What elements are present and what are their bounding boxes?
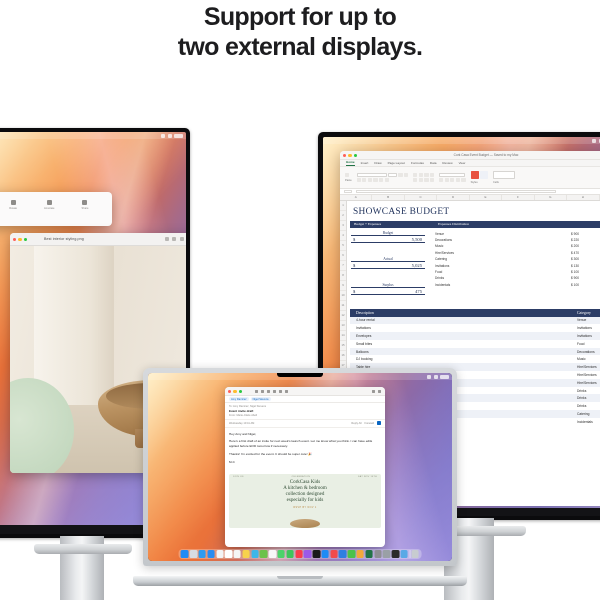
rotate-icon	[11, 200, 16, 205]
photo-window-title: Best interior styling.png	[44, 237, 84, 241]
increase-font-icon[interactable]	[398, 173, 402, 177]
table-row[interactable]: BalloonsDecorations	[350, 348, 600, 356]
tab-insert[interactable]: Insert	[361, 161, 369, 165]
distribution-category: Food	[435, 270, 475, 274]
sidebar-toggle-icon[interactable]	[165, 237, 169, 241]
distribution-percent: 17%	[477, 232, 483, 236]
dock-news-icon[interactable]	[330, 550, 337, 557]
wrap-text-icon[interactable]	[430, 173, 434, 177]
search-icon[interactable]	[378, 390, 381, 393]
distribution-percent: 10%	[477, 251, 483, 255]
tab-draw[interactable]: Draw	[374, 161, 381, 165]
distribution-bar-track: 17%	[475, 231, 529, 237]
ribbon-group-styles[interactable]: Styles	[471, 171, 488, 183]
distribution-bar-track: 5%	[475, 244, 529, 250]
cell-category: Invitations	[577, 326, 600, 330]
zoom-icon[interactable]	[239, 390, 242, 393]
mail-paragraph-1: Here's a first draft of an invite for ne…	[229, 439, 381, 448]
distribution-percent: 8%	[477, 257, 481, 261]
align-right-icon[interactable]	[424, 178, 428, 182]
row-header[interactable]: 6	[340, 251, 346, 261]
row-header[interactable]: 13	[340, 321, 346, 331]
distribution-amount: $ 100	[543, 270, 579, 274]
laptop-lid-notch	[277, 576, 323, 579]
distribution-percent: 10%	[477, 277, 483, 281]
share-icon	[82, 200, 87, 205]
marketing-image-canvas: Support for up to two external displays.	[0, 0, 600, 600]
macbook-laptop: Amy Ramirez Nigel Stevens To: Amy Ramire…	[133, 368, 467, 600]
cell-category: Music	[577, 357, 600, 361]
tab-page-layout[interactable]: Page Layout	[388, 161, 405, 165]
bold-icon[interactable]	[357, 178, 361, 182]
ribbon-group-label: Styles	[471, 181, 478, 184]
distribution-amount: $ 100	[543, 283, 579, 287]
ribbon-group-alignment[interactable]	[413, 173, 434, 183]
kpi-actual: Actual $ 5,025	[351, 257, 425, 270]
border-icon[interactable]	[373, 178, 377, 182]
dock-contacts-icon[interactable]	[216, 550, 223, 557]
spreadsheet-titlebar[interactable]: Cork Casa Event Budget — Saved to my Mac	[340, 151, 600, 160]
minimize-icon[interactable]	[233, 390, 236, 393]
column-header-h[interactable]: H	[567, 195, 599, 200]
distribution-amount: $ 300	[543, 257, 579, 261]
distribution-amount: $ 900	[543, 276, 579, 280]
invite-corner-left: JOIN US	[233, 476, 244, 478]
dock-preview-icon[interactable]	[374, 550, 381, 557]
formula-input[interactable]	[356, 190, 556, 193]
dock-maps-icon[interactable]	[260, 550, 267, 557]
invite-footer: RSVP BY NOV 1	[229, 506, 381, 509]
dock-finder-icon[interactable]	[181, 550, 188, 557]
dock-music-icon[interactable]	[295, 550, 302, 557]
zoom-icon[interactable]	[24, 238, 27, 241]
row-header[interactable]: 4	[340, 231, 346, 241]
bowl-rim	[290, 519, 320, 528]
distribution-amount: $ 200	[543, 244, 579, 248]
dock-facetime-icon[interactable]	[286, 550, 293, 557]
mail-to-line: To: Amy Ramirez, Nigel Stevens	[229, 405, 381, 408]
section-header-band: Budget + Expenses Expenses Distribution	[350, 221, 600, 228]
ribbon-group-number[interactable]	[439, 173, 466, 183]
mail-quick-actions[interactable]: Reply All Forward	[351, 421, 381, 425]
dock-settings-icon[interactable]	[383, 550, 390, 557]
cell-category: Decorations	[577, 350, 600, 354]
toolbar-item-rotate[interactable]: Rotate	[9, 200, 17, 210]
cell-category: Drinks	[577, 389, 600, 393]
dock[interactable]	[179, 549, 422, 559]
headline-line-2: two external displays.	[0, 33, 600, 63]
traffic-lights[interactable]	[13, 238, 27, 241]
fill-color-icon[interactable]	[379, 178, 383, 182]
column-header-d[interactable]: D	[437, 195, 469, 200]
traffic-lights[interactable]	[228, 390, 242, 393]
row-header[interactable]: 9	[340, 281, 346, 291]
cell-description: Envelopes	[350, 334, 577, 338]
tab-review[interactable]: Review	[442, 161, 452, 165]
tab-formulas[interactable]: Formulas	[411, 161, 424, 165]
menu-bar[interactable]	[323, 137, 600, 144]
headline-line-1: Support for up to	[0, 3, 600, 33]
mail-paragraph-2: Thanks! I'm excited for the event. It sh…	[229, 452, 381, 457]
cell-category: Hire/Services	[577, 365, 600, 369]
mail-metadata: To: Amy Ramirez, Nigel Stevens Event inv…	[225, 403, 385, 420]
cell-category: Incidentals	[577, 420, 600, 424]
decrease-decimal-icon[interactable]	[461, 178, 465, 182]
dock-launchpad-icon[interactable]	[190, 550, 197, 557]
cell-category: Hire/Services	[577, 381, 600, 385]
close-icon[interactable]	[228, 390, 231, 393]
cell-category: Food	[577, 342, 600, 346]
font-name-select[interactable]	[357, 173, 387, 177]
distribution-category: Incidentals	[435, 283, 475, 287]
distribution-category: Invitations	[435, 264, 475, 268]
camera-notch	[277, 373, 323, 377]
close-icon[interactable]	[343, 154, 346, 157]
table-header-row: Description Category	[350, 309, 600, 317]
mail-body: Hey Amy and Nigel, Here's a first draft …	[225, 428, 385, 472]
distribution-bar-track: 7%	[475, 237, 529, 243]
photo-window-titlebar[interactable]: Best interior styling.png	[10, 233, 186, 246]
menu-bar-status-items[interactable]	[427, 375, 449, 379]
recipient-chip-nigel[interactable]: Nigel Stevens	[251, 397, 271, 401]
cell-description: Small bites	[350, 342, 577, 346]
italic-icon[interactable]	[362, 178, 366, 182]
toolbar-label: Rotate	[9, 207, 17, 210]
distribution-bar-track: 8%	[475, 256, 529, 262]
distribution-category: Music	[435, 244, 475, 248]
mail-signature: M-C	[229, 460, 381, 465]
distribution-bar-track: 4%	[475, 263, 529, 269]
mail-from-line: From: Marie-Claire Abell	[229, 414, 381, 417]
dock-terminal-icon[interactable]	[392, 550, 399, 557]
conditional-formatting-icon[interactable]	[471, 171, 479, 179]
row-header[interactable]: 15	[340, 341, 346, 351]
zoom-in-icon[interactable]	[180, 237, 184, 241]
align-left-icon[interactable]	[413, 178, 417, 182]
name-box[interactable]	[344, 190, 352, 193]
distribution-bar-track: 9%	[475, 269, 529, 275]
invite-cork-bowl-image	[290, 519, 320, 528]
distribution-bar-track: 10%	[475, 276, 529, 282]
underline-icon[interactable]	[368, 178, 372, 182]
distribution-category: Hire/Services	[435, 251, 475, 255]
distribution-percent: 4%	[477, 264, 481, 268]
column-header-c[interactable]: C	[405, 195, 437, 200]
laptop-base	[133, 576, 467, 586]
column-header-g[interactable]: G	[535, 195, 567, 200]
dock-reminders-icon[interactable]	[234, 550, 241, 557]
row-header[interactable]: 5	[340, 241, 346, 251]
distribution-amount: $ 130	[543, 264, 579, 268]
laptop-screen: Amy Ramirez Nigel Stevens To: Amy Ramire…	[148, 373, 452, 561]
battery-icon[interactable]	[434, 375, 438, 379]
dock-photos-icon[interactable]	[269, 550, 276, 557]
invite-corner-labels: JOIN US CELEBRATION SAT NOV 16TH	[229, 474, 381, 479]
forward-label[interactable]: Forward	[364, 422, 374, 425]
close-icon[interactable]	[13, 238, 16, 241]
table-row[interactable]: 4-hour rentalVenue	[350, 317, 600, 325]
cell-description: DJ booking	[350, 357, 577, 361]
zoom-out-icon[interactable]	[172, 237, 176, 241]
distribution-category: Venue	[435, 232, 475, 236]
cell-styles-gallery[interactable]	[493, 171, 515, 179]
distribution-bar-track: 10%	[475, 250, 529, 256]
recipient-chip-amy[interactable]: Amy Ramirez	[229, 397, 249, 401]
dock-safari-icon[interactable]	[199, 550, 206, 557]
distribution-amount: $ 900	[543, 232, 579, 236]
cell-category: Drinks	[577, 404, 600, 408]
ribbon-group-label: Paste	[345, 179, 352, 182]
row-header[interactable]: 11	[340, 301, 346, 311]
ribbon-tab-bar[interactable]: Home Insert Draw Page Layout Formulas Da…	[340, 160, 600, 167]
number-format-select[interactable]	[439, 173, 465, 177]
dock-messages-icon[interactable]	[278, 550, 285, 557]
expenses-distribution-chart: Venue17%$ 900Decorations7%$ 220Music5%$ …	[435, 231, 595, 289]
annotate-icon	[47, 200, 52, 205]
align-middle-icon[interactable]	[419, 173, 423, 177]
sheet-title: SHOWCASE BUDGET	[353, 207, 449, 217]
dock-calendar-icon[interactable]	[225, 550, 232, 557]
kpi-budget: Budget $ 5,500	[351, 231, 425, 244]
column-description: Description	[350, 311, 577, 315]
ribbon-group-font[interactable]	[357, 173, 409, 183]
ribbon-group-paste[interactable]: Paste	[345, 173, 352, 182]
ribbon-group-label: Cells	[493, 181, 499, 184]
menu-bar-status-items[interactable]	[161, 134, 183, 138]
avatar	[377, 421, 381, 425]
forward-icon[interactable]	[285, 390, 288, 393]
column-header-e[interactable]: E	[470, 195, 502, 200]
paste-icon[interactable]	[345, 173, 349, 177]
row-header[interactable]: 7	[340, 261, 346, 271]
table-row[interactable]: InvitationsInvitations	[350, 324, 600, 332]
cell-description: Invitations	[350, 326, 577, 330]
clock-label[interactable]	[440, 375, 449, 379]
distribution-amount: $ 220	[543, 238, 579, 242]
invite-title: CorkCasa Kids A kitchen & bedroom collec…	[229, 480, 381, 504]
dock-tv-icon[interactable]	[313, 550, 320, 557]
font-size-select[interactable]	[388, 173, 397, 177]
toolbar-item-share[interactable]: Share	[82, 200, 89, 210]
traffic-lights[interactable]	[343, 154, 357, 157]
distribution-amount: $ 470	[543, 251, 579, 255]
ribbon-group-cells[interactable]: Cells	[493, 171, 515, 183]
kpi-surplus: Surplus $ 475	[351, 283, 425, 296]
cell-description: 4-hour rental	[350, 318, 577, 322]
flag-icon[interactable]	[372, 390, 375, 393]
mail-date: Wednesday 10:41 AM	[229, 422, 254, 425]
cell-category: Drinks	[577, 396, 600, 400]
tab-view[interactable]: View	[459, 161, 466, 165]
markup-toolbar[interactable]: Markup Rotate Annotate Share	[0, 200, 112, 210]
currency-format-icon[interactable]	[439, 178, 443, 182]
column-category: Category	[577, 311, 600, 315]
mail-date-row: Wednesday 10:41 AM Reply All Forward	[225, 420, 385, 428]
mail-left-toolbar[interactable]	[255, 390, 288, 393]
tab-home[interactable]: Home	[346, 160, 355, 166]
dock-app-store-icon[interactable]	[321, 550, 328, 557]
toolbar-label: Share	[82, 207, 89, 210]
wifi-icon[interactable]	[427, 375, 431, 379]
table-row[interactable]: DJ bookingMusic	[350, 355, 600, 363]
section-label-distribution: Expenses Distribution	[438, 222, 469, 226]
cell-category: Venue	[577, 318, 600, 322]
distribution-category: Catering	[435, 257, 475, 261]
mail-titlebar[interactable]	[225, 387, 385, 396]
dock-pages-icon[interactable]	[357, 550, 364, 557]
zoom-icon[interactable]	[354, 154, 357, 157]
invite-corner-center: CELEBRATION	[292, 476, 311, 478]
menu-bar[interactable]	[0, 132, 186, 139]
kpi-value: 475	[415, 289, 422, 294]
column-header-b[interactable]: B	[372, 195, 404, 200]
distribution-category: Drinks	[435, 276, 475, 280]
cell-category: Catering	[577, 412, 600, 416]
ribbon[interactable]: Paste	[340, 167, 600, 189]
laptop-lid: Amy Ramirez Nigel Stevens To: Amy Ramire…	[143, 368, 457, 566]
invite-attachment[interactable]: JOIN US CELEBRATION SAT NOV 16TH CorkCas…	[229, 474, 381, 528]
decrease-font-icon[interactable]	[404, 173, 408, 177]
table-row[interactable]: Small bitesFood	[350, 340, 600, 348]
row-header[interactable]: 10	[340, 291, 346, 301]
page-title: Support for up to two external displays.	[0, 3, 600, 62]
preview-background-window[interactable]: Markup Rotate Annotate Share	[0, 192, 112, 226]
toolbar-item-annotate[interactable]: Annotate	[44, 200, 54, 210]
align-center-icon[interactable]	[419, 178, 423, 182]
dock-trash-icon[interactable]	[412, 550, 419, 557]
column-header-f[interactable]: F	[502, 195, 534, 200]
mail-paragraph-greeting: Hey Amy and Nigel,	[229, 432, 381, 437]
wifi-icon[interactable]	[161, 134, 165, 138]
section-label-budget: Budget + Expenses	[354, 222, 381, 226]
dock-numbers-icon[interactable]	[348, 550, 355, 557]
format-as-table-icon[interactable]	[480, 171, 488, 179]
comma-format-icon[interactable]	[450, 178, 454, 182]
reply-icon[interactable]	[273, 390, 276, 393]
distribution-bar-track: 3%	[475, 282, 529, 288]
distribution-percent: 7%	[477, 238, 481, 242]
delete-icon[interactable]	[255, 390, 258, 393]
battery-icon[interactable]	[168, 134, 172, 138]
wifi-icon[interactable]	[592, 139, 596, 143]
photo-window-toolbar[interactable]	[165, 237, 187, 241]
row-header[interactable]: 12	[340, 311, 346, 321]
kpi-currency: $	[353, 263, 355, 268]
row-header[interactable]: 14	[340, 331, 346, 341]
kpi-value: 5,500	[412, 237, 422, 242]
invite-title-line-4: especially for kids	[229, 498, 381, 504]
row-header[interactable]: 8	[340, 271, 346, 281]
dock-excel-icon[interactable]	[365, 550, 372, 557]
kpi-currency: $	[353, 289, 355, 294]
mail-subject: Event invite draft	[229, 409, 381, 413]
row-header[interactable]: 16	[340, 351, 346, 361]
align-bottom-icon[interactable]	[424, 173, 428, 177]
dock-mail-icon[interactable]	[207, 550, 214, 557]
cell-category: Invitations	[577, 334, 600, 338]
recipient-chips[interactable]: Amy Ramirez Nigel Stevens	[225, 396, 385, 403]
dock-podcasts-icon[interactable]	[304, 550, 311, 557]
document-title: Cork Casa Event Budget — Saved to my Mac	[454, 153, 519, 157]
column-header-a[interactable]: A	[340, 195, 372, 200]
percent-format-icon[interactable]	[445, 178, 449, 182]
clock-label[interactable]	[174, 134, 183, 138]
mail-window[interactable]: Amy Ramirez Nigel Stevens To: Amy Ramire…	[225, 387, 385, 547]
invite-corner-right: SAT NOV 16TH	[358, 476, 377, 478]
row-header[interactable]: 2	[340, 211, 346, 221]
table-row[interactable]: EnvelopesInvitations	[350, 332, 600, 340]
dock-notes-icon[interactable]	[242, 550, 249, 557]
align-top-icon[interactable]	[413, 173, 417, 177]
cell-category: Hire/Services	[577, 373, 600, 377]
kpi-value: 5,025	[412, 263, 422, 268]
distribution-category: Decorations	[435, 238, 475, 242]
font-color-icon[interactable]	[385, 178, 389, 182]
merge-cells-icon[interactable]	[430, 178, 434, 182]
reply-all-icon[interactable]	[279, 390, 282, 393]
tab-data[interactable]: Data	[430, 161, 437, 165]
cell-description: Balloons	[350, 350, 577, 354]
row-header[interactable]: 3	[340, 221, 346, 231]
left-display-stand-foot	[34, 544, 132, 554]
row-header[interactable]: 1	[340, 201, 346, 211]
minimize-icon[interactable]	[348, 154, 351, 157]
kpi-currency: $	[353, 237, 355, 242]
junk-icon[interactable]	[267, 390, 270, 393]
dock-separator	[409, 550, 410, 557]
archive-icon[interactable]	[261, 390, 264, 393]
minimize-icon[interactable]	[18, 238, 21, 241]
distribution-percent: 3%	[477, 283, 481, 287]
dock-downloads-icon[interactable]	[400, 550, 407, 557]
toolbar-label: Annotate	[44, 207, 54, 210]
dock-freeform-icon[interactable]	[251, 550, 258, 557]
reply-all-label[interactable]: Reply All	[351, 422, 361, 425]
distribution-percent: 9%	[477, 270, 481, 274]
mail-right-toolbar[interactable]	[372, 390, 381, 393]
increase-decimal-icon[interactable]	[456, 178, 460, 182]
menu-bar-status-items[interactable]	[592, 139, 600, 143]
dock-keynote-icon[interactable]	[339, 550, 346, 557]
distribution-percent: 5%	[477, 245, 481, 249]
distribution-row: Incidentals3%$ 100	[435, 282, 595, 288]
